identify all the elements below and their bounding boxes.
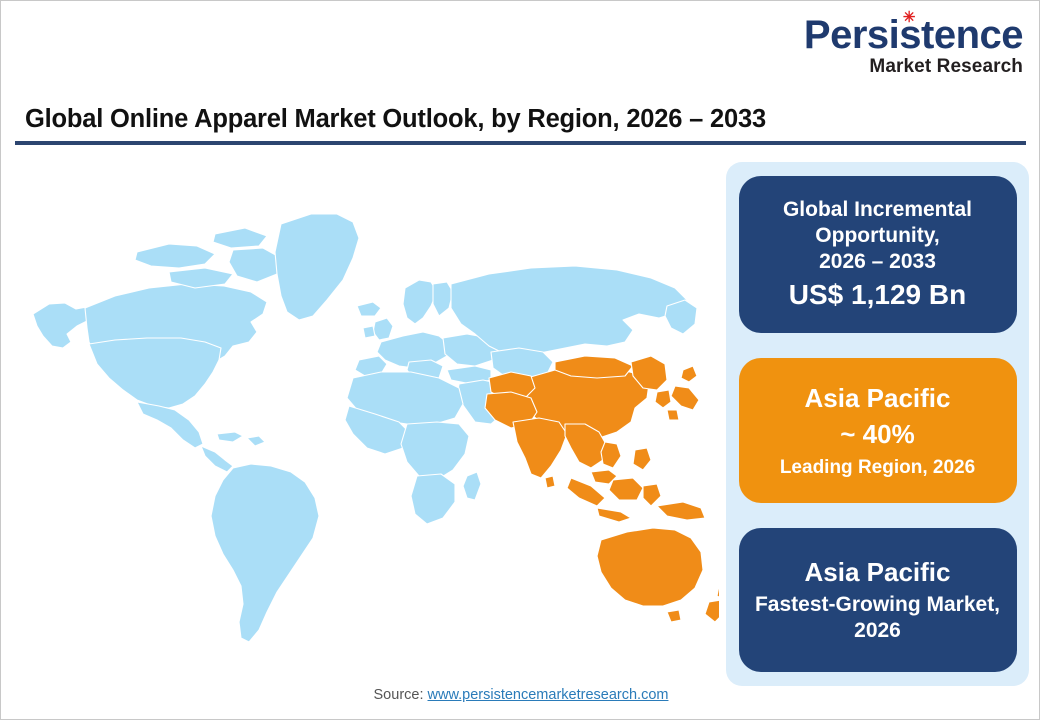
- region-japan: [681, 366, 697, 382]
- region-alaska: [33, 303, 93, 348]
- stats-panel: Global Incremental Opportunity, 2026 – 2…: [726, 162, 1029, 686]
- region-india: [513, 418, 567, 478]
- region-korea: [655, 390, 671, 408]
- card3-sub-line2: 2026: [854, 618, 901, 644]
- region-borneo: [609, 478, 643, 500]
- region-united-states: [89, 338, 221, 408]
- region-finland: [433, 282, 453, 316]
- title-divider: [15, 141, 1026, 145]
- card1-amount: US$ 1,129 Bn: [789, 277, 966, 312]
- region-baffin: [229, 248, 281, 282]
- region-russia: [451, 266, 687, 356]
- region-arctic-islands-3: [213, 228, 267, 248]
- region-papua-new-guinea: [657, 502, 705, 520]
- asterisk-icon: ✳: [903, 10, 915, 25]
- region-vietnam: [601, 442, 621, 468]
- region-central-east-africa: [401, 422, 469, 480]
- region-java: [597, 508, 631, 522]
- region-russia-far-east: [665, 300, 697, 334]
- card2-sub: Leading Region, 2026: [780, 456, 975, 479]
- region-mexico: [137, 402, 203, 448]
- page-title: Global Online Apparel Market Outlook, by…: [25, 105, 766, 134]
- card2-region: Asia Pacific: [805, 382, 951, 415]
- region-australia: [597, 528, 703, 606]
- region-ireland: [363, 326, 375, 338]
- region-sri-lanka: [545, 476, 555, 488]
- region-sulawesi: [643, 484, 661, 506]
- source-label: Source:: [374, 687, 428, 703]
- region-new-zealand-north: [717, 582, 719, 600]
- card3-sub-line1: Fastest-Growing Market,: [755, 592, 1000, 618]
- region-new-zealand-south: [705, 600, 719, 622]
- source-link[interactable]: www.persistencemarketresearch.com: [428, 687, 669, 703]
- region-british-isles: [373, 318, 393, 340]
- region-caribbean-2: [247, 436, 265, 446]
- region-japan-kyushu: [667, 410, 679, 420]
- world-map: [19, 156, 719, 666]
- region-southern-africa: [411, 474, 455, 524]
- card1-line1: Global Incremental: [783, 197, 972, 223]
- infographic-page: Persistence ✳ Market Research Global Onl…: [0, 0, 1040, 720]
- stat-card-global-incremental-opportunity[interactable]: Global Incremental Opportunity, 2026 – 2…: [739, 176, 1017, 333]
- card3-region: Asia Pacific: [805, 556, 951, 589]
- region-greenland: [275, 214, 359, 320]
- region-japan-honshu: [671, 386, 699, 410]
- brand-logo: Persistence ✳ Market Research: [804, 15, 1023, 76]
- card2-percent: ~ 40%: [840, 418, 914, 451]
- source-line: Source: www.persistencemarketresearch.co…: [1, 687, 1040, 703]
- region-central-america: [201, 446, 233, 472]
- card1-line2: Opportunity,: [815, 223, 939, 249]
- region-philippines: [633, 448, 651, 470]
- stat-card-leading-region[interactable]: Asia Pacific ~ 40% Leading Region, 2026: [739, 358, 1017, 503]
- region-arctic-islands-1: [135, 244, 215, 268]
- card1-line3: 2026 – 2033: [819, 249, 936, 275]
- region-caribbean-1: [217, 432, 243, 442]
- region-tasmania: [667, 610, 681, 622]
- brand-name: Persistence ✳: [804, 15, 1023, 55]
- region-south-america: [211, 464, 319, 642]
- region-iceland: [357, 302, 381, 316]
- stat-card-fastest-growing-market[interactable]: Asia Pacific Fastest-Growing Market, 202…: [739, 528, 1017, 672]
- brand-tagline: Market Research: [804, 57, 1023, 76]
- world-map-svg: [19, 156, 719, 666]
- region-madagascar: [463, 472, 481, 500]
- region-mongolia: [555, 356, 633, 378]
- map-highlight-asia-pacific: [485, 356, 719, 622]
- region-scandinavia: [403, 280, 437, 324]
